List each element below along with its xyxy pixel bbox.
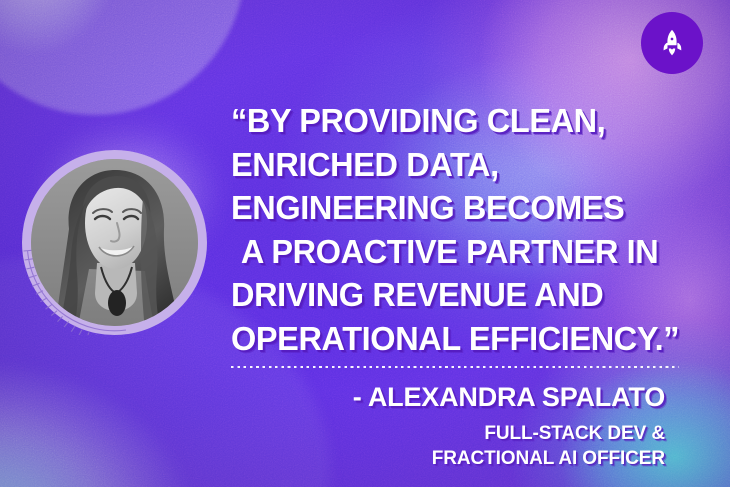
attribution-role-line-1: FULL-STACK DEV & <box>231 421 665 446</box>
attribution-name: - ALEXANDRA SPALATO <box>231 382 665 412</box>
attribution-role-line-2: FRACTIONAL AI OFFICER <box>231 446 665 471</box>
avatar-photo <box>31 159 198 326</box>
quote-line-4: A PROACTIVE PARTNER IN <box>231 230 702 274</box>
quote-line-3: ENGINEERING BECOMES <box>231 186 702 230</box>
quote-line-6: OPERATIONAL EFFICIENCY.” <box>231 317 702 361</box>
quote-line-5: DRIVING REVENUE AND <box>231 273 702 317</box>
quote-text: “BY PROVIDING CLEAN, ENRICHED DATA, ENGI… <box>231 99 709 360</box>
avatar-photo-image <box>31 159 198 326</box>
attribution-roles: FULL-STACK DEV & FRACTIONAL AI OFFICER <box>231 421 665 471</box>
attribution: - ALEXANDRA SPALATO FULL-STACK DEV & FRA… <box>231 382 665 471</box>
quote-line-2: ENRICHED DATA, <box>231 143 702 187</box>
rocket-icon <box>657 28 687 58</box>
avatar <box>22 150 207 335</box>
dotted-divider <box>231 366 679 368</box>
quote-line-1: “BY PROVIDING CLEAN, <box>231 99 702 143</box>
quote-card: “BY PROVIDING CLEAN, ENRICHED DATA, ENGI… <box>0 0 730 487</box>
rocket-logo-badge[interactable] <box>641 12 703 74</box>
